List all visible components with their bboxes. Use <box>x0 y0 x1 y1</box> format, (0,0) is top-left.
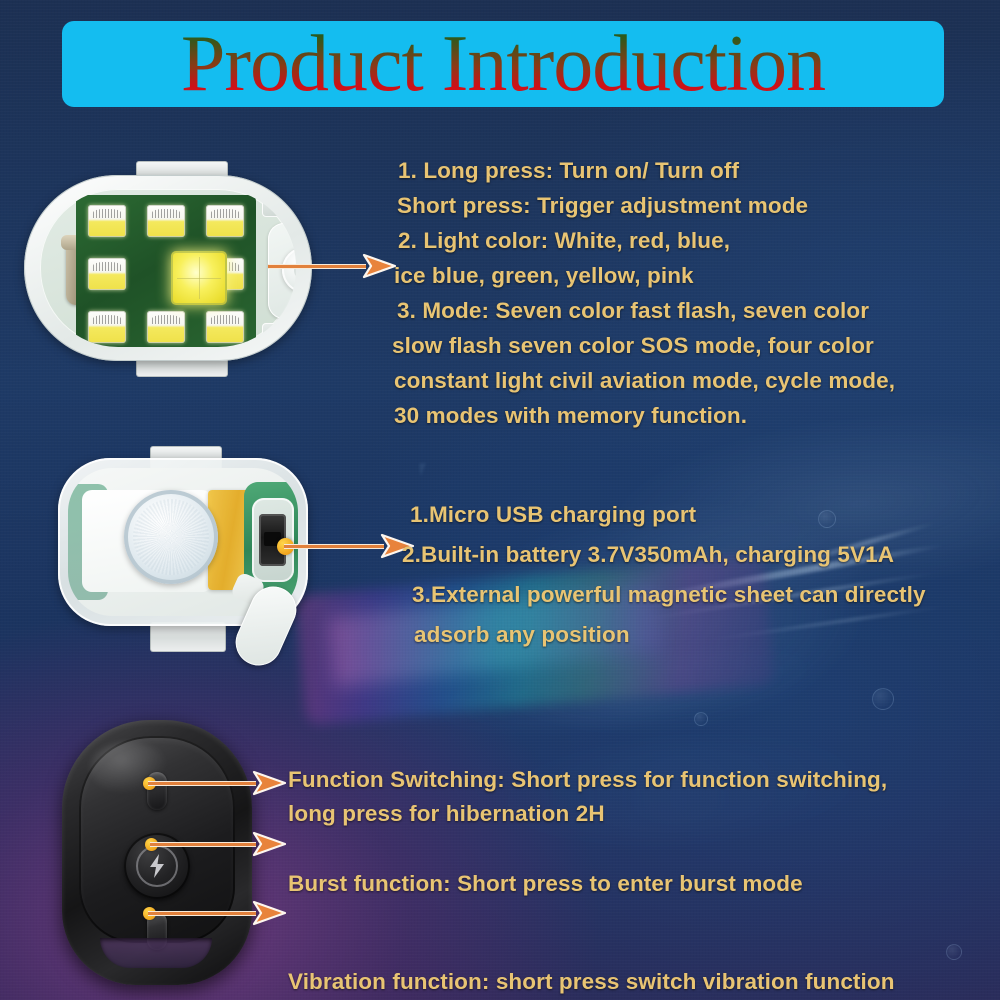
arrow-shaft <box>268 264 366 269</box>
feature-line: long press for hibernation 2H <box>288 797 895 831</box>
feature-line: 1.Micro USB charging port <box>410 495 926 535</box>
background-bokeh-dot <box>694 712 708 726</box>
feature-line: ice blue, green, yellow, pink <box>394 258 895 293</box>
arrow-head-icon <box>362 253 396 279</box>
feature-line: 3. Mode: Seven color fast flash, seven c… <box>397 293 895 328</box>
page-title: Product Introduction <box>62 17 944 111</box>
arrow-head-icon <box>252 900 286 926</box>
mounting-strap-bottom <box>150 622 226 652</box>
callout-arrow-function-switching <box>148 770 284 796</box>
feature-line: 2. Light color: White, red, blue, <box>398 223 895 258</box>
led-module-interior <box>40 189 296 347</box>
product-image-led-module-back <box>58 450 308 660</box>
feature-line: 30 modes with memory function. <box>394 398 895 433</box>
background-bokeh-dot <box>872 688 894 710</box>
callout-arrow-vibration-function <box>148 900 284 926</box>
feature-line: constant light civil aviation mode, cycl… <box>394 363 895 398</box>
feature-line: slow flash seven color SOS mode, four co… <box>392 328 895 363</box>
arrow-shaft <box>284 544 384 549</box>
feature-text-led-back: 1.Micro USB charging port 2.Built-in bat… <box>400 495 926 655</box>
led-chip <box>88 258 126 290</box>
feature-line: 1. Long press: Turn on/ Turn off <box>398 153 895 188</box>
center-led-chip <box>171 251 227 305</box>
led-chip <box>147 311 185 343</box>
feature-line: 3.External powerful magnetic sheet can d… <box>412 575 926 615</box>
title-banner: Product Introduction <box>62 21 944 107</box>
screw-mount-top-right <box>262 195 292 217</box>
arrow-head-icon <box>252 770 286 796</box>
arrow-head-icon <box>252 831 286 857</box>
arrow-shaft <box>148 781 256 786</box>
callout-arrow-burst-function <box>150 831 286 857</box>
background-bokeh-dot <box>946 944 962 960</box>
led-chip <box>206 311 244 343</box>
feature-line: Burst function: Short press to enter bur… <box>288 867 895 901</box>
product-introduction-infographic: Product Introduction <box>0 0 1000 1000</box>
circuit-board <box>76 195 256 347</box>
feature-line: adsorb any position <box>414 615 926 655</box>
feature-text-led-front: 1. Long press: Turn on/ Turn off Short p… <box>398 153 895 433</box>
screw-mount-bottom-right <box>262 323 292 345</box>
feature-line: Function Switching: Short press for func… <box>288 763 895 797</box>
lightning-bolt-icon <box>149 854 165 878</box>
keyring-slot <box>100 938 212 968</box>
arrow-shaft <box>148 911 256 916</box>
feature-text-remote: Function Switching: Short press for func… <box>288 763 895 999</box>
led-chip <box>147 205 185 237</box>
callout-arrow-micro-usb <box>284 533 412 559</box>
magnetic-sheet <box>124 490 218 584</box>
led-chip <box>206 205 244 237</box>
led-chip <box>88 311 126 343</box>
feature-line: 2.Built-in battery 3.7V350mAh, charging … <box>402 535 926 575</box>
feature-line: Short press: Trigger adjustment mode <box>397 188 895 223</box>
arrow-shaft <box>150 842 256 847</box>
callout-arrow-power-button <box>268 253 396 279</box>
feature-line: Vibration function: short press switch v… <box>288 965 895 999</box>
led-chip <box>88 205 126 237</box>
